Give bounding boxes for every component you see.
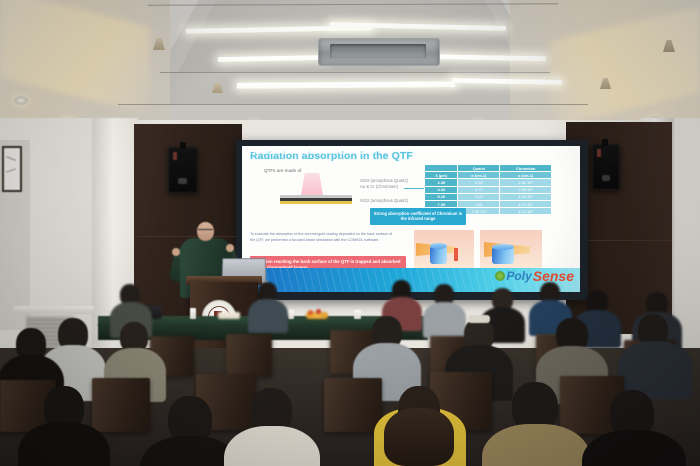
speaker-driver-right <box>602 175 610 181</box>
framed-wall-picture <box>2 146 22 192</box>
table-cell: 21.0 <box>458 193 500 200</box>
fruit-2 <box>316 309 321 314</box>
audience-hair <box>384 408 454 466</box>
diagram-arrow-line <box>404 188 426 189</box>
speaker-indicator-right <box>597 149 601 157</box>
table-row: 5.26 21.0 4.00 10⁵ <box>425 193 552 200</box>
table-cell: 1.52 10⁵ <box>500 179 552 186</box>
simulation-render-1 <box>414 230 474 270</box>
audience-shoulders <box>248 299 288 333</box>
table-cell: 190 <box>458 200 500 207</box>
table-row: 4.33 3.72 2.80 10⁵ <box>425 186 552 193</box>
slide-citation: T. Wei, et al., Applied Physics Review, … <box>248 150 375 278</box>
speaker-bracket-right <box>602 139 608 146</box>
table-cell: 5.26 <box>425 193 458 200</box>
chair <box>324 378 382 432</box>
paper-cup-2 <box>288 310 294 319</box>
table-cell: 5.53 <box>458 179 500 186</box>
wall-ledge <box>14 306 94 314</box>
hair-clip-icon <box>468 315 490 323</box>
table-header-row: Quartz Chromium <box>425 165 552 172</box>
polysense-logo: Poly Sense <box>495 268 574 284</box>
speaker-driver-left <box>178 178 187 184</box>
picture-detail-1 <box>6 156 16 161</box>
chair <box>226 334 272 376</box>
table-header-cell-0 <box>425 165 458 172</box>
paper-cup-1 <box>190 308 196 319</box>
chair <box>92 378 150 432</box>
table-cell: 2.80 10⁵ <box>500 186 552 193</box>
presenter-hand-right <box>226 244 234 252</box>
table-subheader-cell-0: λ (µm) <box>425 172 458 179</box>
logo-text-poly: Poly <box>506 269 531 283</box>
speaker-indicator-left <box>173 152 177 160</box>
table-row: 7.35 190 4.10 10⁵ <box>425 200 552 207</box>
downlight-1 <box>14 96 28 105</box>
table-cell: 4.10 10⁵ <box>500 200 552 207</box>
logo-text-sense: Sense <box>533 268 574 284</box>
speaker-bracket-left <box>180 142 186 149</box>
ceiling <box>0 0 700 132</box>
ceiling-seam-2 <box>118 104 588 105</box>
table-subheader-row: λ (µm) α (cm-1) α (cm-1) <box>425 172 552 179</box>
table-cell: 4.33 <box>425 186 458 193</box>
name-plate <box>218 312 240 319</box>
audience-shoulders <box>423 302 466 338</box>
sim2-cylinder-top <box>492 244 514 250</box>
table-cell: 4.12 10⁵ <box>500 208 552 215</box>
polysense-bug-icon <box>495 271 505 281</box>
ceiling-seam-3 <box>160 72 550 73</box>
table-header-cell-2: Chromium <box>500 165 552 172</box>
sim1-cylinder-top <box>430 243 447 249</box>
presenter-glasses <box>198 229 213 233</box>
presentation-slide: Radiation absorption in the QTF QTFs are… <box>242 146 580 292</box>
fruit-1 <box>308 310 313 315</box>
sim1-hotspot <box>454 248 458 261</box>
table-subheader-cell-1: α (cm-1) <box>458 172 500 179</box>
table-cell: 3.72 <box>458 186 500 193</box>
table-cell: 4.45 <box>425 179 458 186</box>
table-row: 4.45 5.53 1.52 10⁵ <box>425 179 552 186</box>
wall-speaker-left <box>168 147 198 193</box>
table-subheader-cell-2: α (cm-1) <box>500 172 552 179</box>
picture-detail-2 <box>6 168 16 172</box>
seminar-room-photo: Radiation absorption in the QTF QTFs are… <box>0 0 700 466</box>
table-cell: 7.35 <box>425 200 458 207</box>
simulation-render-2 <box>480 230 542 270</box>
table-cell: 4.00 10⁵ <box>500 193 552 200</box>
table-header-cell-1: Quartz <box>458 165 500 172</box>
wall-speaker-right <box>592 144 620 190</box>
ac-vent-louver <box>330 44 426 58</box>
paper-cup-3 <box>354 310 361 319</box>
wood-panel-seam-left <box>134 236 242 237</box>
callout-cyan-box: Strong absorption coefficient of Chromiu… <box>370 208 466 225</box>
presenter-hand-left <box>172 248 180 256</box>
